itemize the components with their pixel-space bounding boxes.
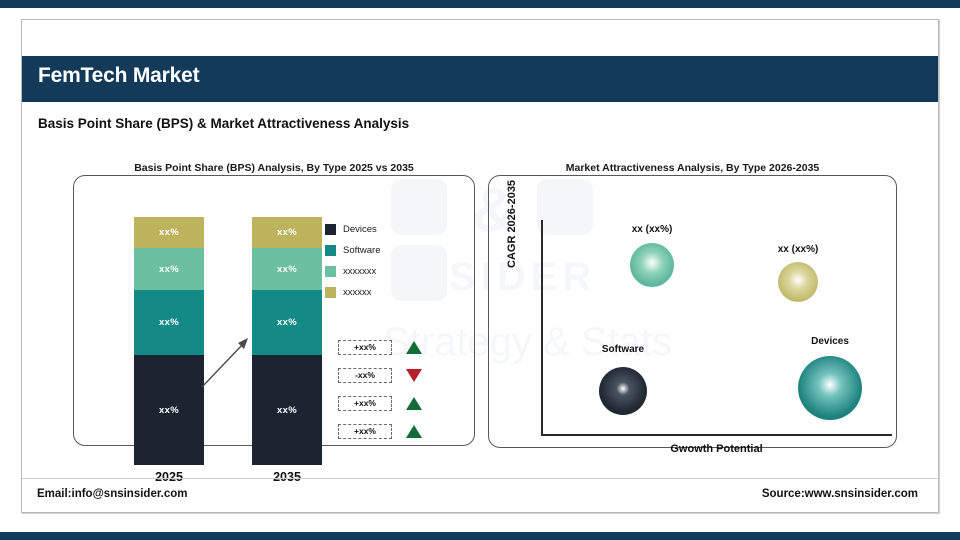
bar-segment-2025-xxxxxx: xx% (134, 217, 204, 248)
legend-item-xxxxxxx: xxxxxxx (325, 261, 381, 281)
attractiveness-panel-title: Market Attractiveness Analysis, By Type … (488, 162, 897, 174)
x-axis-line (541, 434, 892, 436)
bar-segment-2025-software: xx% (134, 290, 204, 355)
stacked-bar-2035: xx% xx% xx% xx% (252, 217, 322, 465)
delta-row: +xx% (338, 389, 422, 417)
bubble-devices (798, 356, 862, 420)
delta-row: -xx% (338, 361, 422, 389)
bubble-xxxxxx (778, 262, 818, 302)
delta-chip: +xx% (338, 424, 392, 439)
legend-swatch-icon-devices (325, 224, 336, 235)
bar-category-label-2025: 2025 (134, 470, 204, 484)
page-title: FemTech Market (38, 64, 199, 88)
footer-source[interactable]: Source:www.snsinsider.com (762, 488, 918, 500)
stacked-bar-2025: xx% xx% xx% xx% (134, 217, 204, 465)
y-axis-title: CAGR 2026-2035 (506, 180, 518, 268)
bubble-label-software: Software (602, 344, 644, 355)
bar-segment-2035-xxxxxx: xx% (252, 217, 322, 248)
delta-row: +xx% (338, 417, 422, 445)
bar-segment-2025-devices: xx% (134, 355, 204, 465)
legend-swatch-icon-xxxxxxx (325, 266, 336, 277)
bps-legend: Devices Software xxxxxxx xxxxxx (325, 219, 381, 303)
growth-arrow-icon (198, 335, 252, 391)
y-axis-line (541, 220, 543, 435)
triangle-down-icon (406, 369, 422, 382)
bubble-software (599, 367, 647, 415)
page-subtitle: Basis Point Share (BPS) & Market Attract… (38, 116, 409, 131)
triangle-up-icon (406, 425, 422, 438)
bar-segment-2035-devices: xx% (252, 355, 322, 465)
bps-panel-title: Basis Point Share (BPS) Analysis, By Typ… (73, 162, 475, 174)
legend-swatch-icon-software (325, 245, 336, 256)
bubble-label-devices: Devices (811, 336, 849, 347)
report-title-bar: FemTech Market (22, 56, 939, 102)
bar-category-label-2035: 2035 (252, 470, 322, 484)
x-axis-title: Gwowth Potential (541, 443, 892, 455)
legend-item-software: Software (325, 240, 381, 260)
bottom-accent-bar (0, 532, 960, 540)
bubble-label-xxxxxx: xx (xx%) (778, 244, 819, 255)
bar-segment-2035-xxxxxxx: xx% (252, 248, 322, 290)
legend-item-xxxxxx: xxxxxx (325, 282, 381, 302)
delta-chip: +xx% (338, 396, 392, 411)
legend-item-devices: Devices (325, 219, 381, 239)
footer-email[interactable]: Email:info@snsinsider.com (37, 488, 188, 500)
bps-delta-list: +xx% -xx% +xx% +xx% (338, 333, 422, 445)
legend-swatch-icon-xxxxxx (325, 287, 336, 298)
bar-segment-2025-xxxxxxx: xx% (134, 248, 204, 290)
bubble-xxxxxxx (630, 243, 674, 287)
footer-divider (22, 478, 939, 479)
delta-chip: +xx% (338, 340, 392, 355)
delta-row: +xx% (338, 333, 422, 361)
slide-card: FemTech Market Basis Point Share (BPS) &… (21, 19, 939, 513)
bar-segment-2035-software: xx% (252, 290, 322, 355)
triangle-up-icon (406, 341, 422, 354)
top-accent-bar (0, 0, 960, 8)
delta-chip: -xx% (338, 368, 392, 383)
bubble-label-xxxxxxx: xx (xx%) (632, 224, 673, 235)
triangle-up-icon (406, 397, 422, 410)
